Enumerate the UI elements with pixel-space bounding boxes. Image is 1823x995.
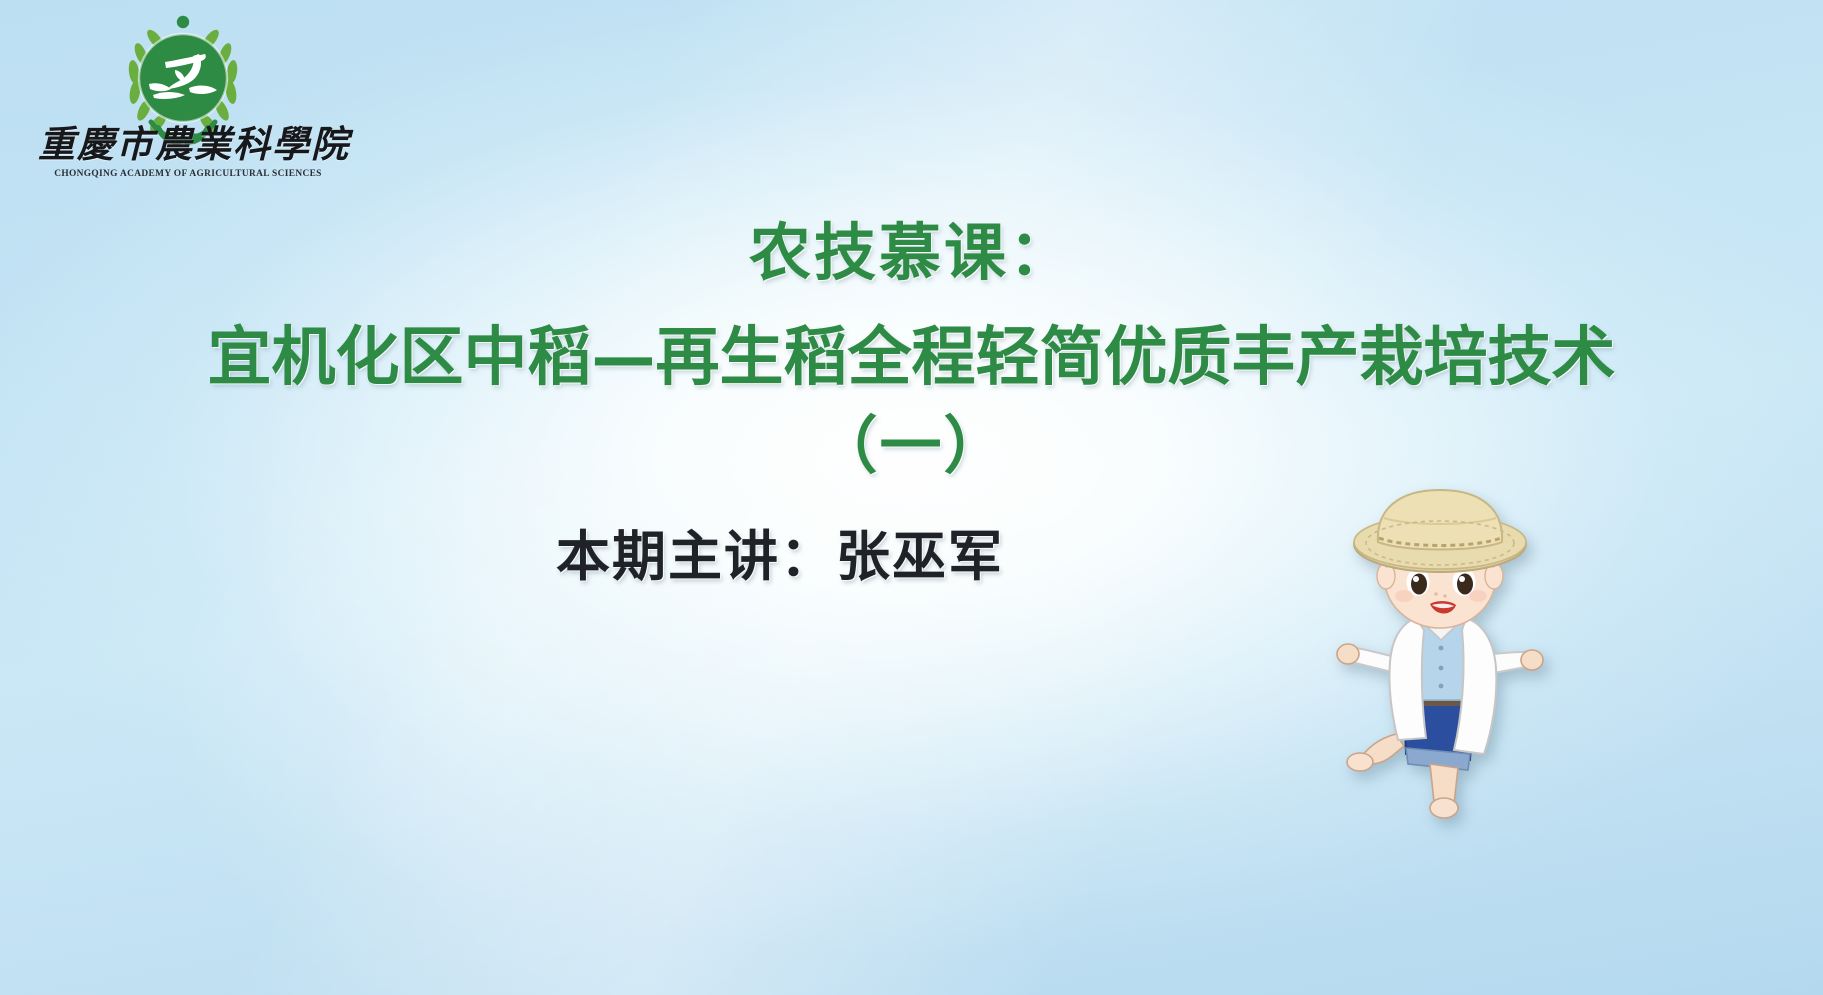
logo-english-name: CHONGQING ACADEMY OF AGRICULTURAL SCIENC… bbox=[35, 169, 341, 178]
farmer-boy-mascot-icon bbox=[1318, 472, 1558, 822]
title-line-2: 宜机化区中稻—再生稻全程轻简优质丰产栽培技术 bbox=[0, 326, 1823, 390]
logo-chinese-name: 重慶市農業科學院 bbox=[38, 126, 338, 163]
institution-logo: 重慶市農業科學院 CHONGQING ACADEMY OF AGRICULTUR… bbox=[38, 6, 338, 186]
title-line-3: （一） bbox=[0, 415, 1823, 477]
presentation-slide: 重慶市農業科學院 CHONGQING ACADEMY OF AGRICULTUR… bbox=[0, 0, 1823, 995]
title-line-1: 农技慕课： bbox=[0, 222, 1823, 284]
